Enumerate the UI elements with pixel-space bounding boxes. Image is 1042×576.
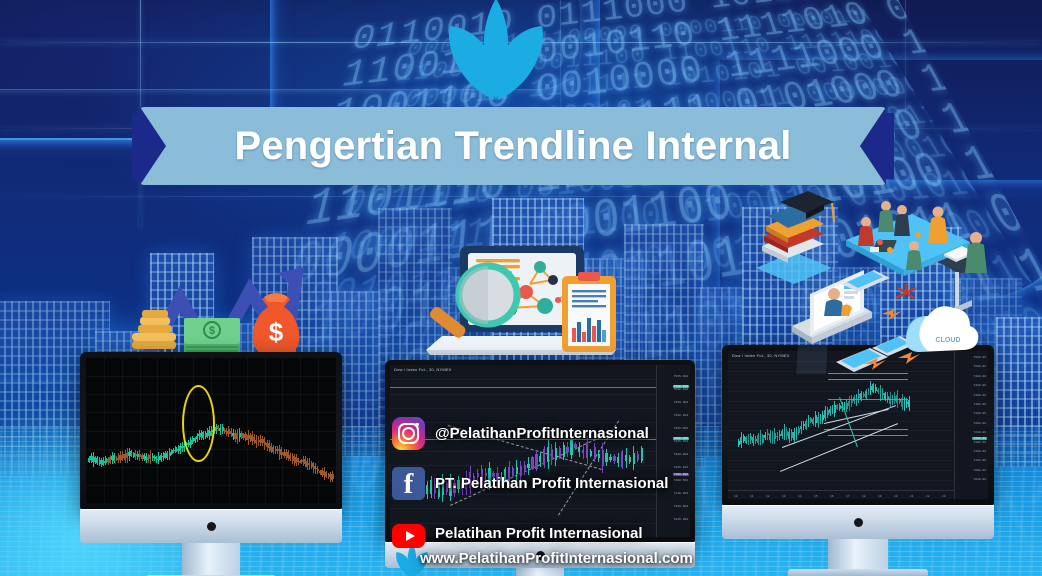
social-row-youtube[interactable]: Pelatihan Profit Internasional <box>392 512 722 554</box>
instagram-icon[interactable] <box>392 417 425 450</box>
time-tick: 14 <box>798 495 802 498</box>
youtube-icon[interactable] <box>392 524 425 548</box>
time-tick: 16 <box>830 495 834 498</box>
horizon-grid-line <box>0 42 1042 43</box>
time-tick: 19 <box>878 495 882 498</box>
neon-curve-icon <box>0 0 580 90</box>
time-tick: 12 <box>766 495 770 498</box>
time-tick: 15 <box>814 495 818 498</box>
price-tick: 7120.00 <box>973 459 986 462</box>
time-tick: 13 <box>782 495 786 498</box>
price-tick: 7040.00 <box>973 478 986 481</box>
current-price-tag: 7280.00 <box>972 437 987 440</box>
price-tick: 7160.00 <box>973 450 986 453</box>
price-tick: 7480.00 <box>973 375 986 378</box>
time-tick: 22 <box>926 495 930 498</box>
time-tick: 10 <box>734 495 738 498</box>
price-tick: 7520.00 <box>973 365 986 368</box>
price-tick: 7500.100 <box>674 388 688 391</box>
price-tick: 7320.00 <box>973 412 986 415</box>
poster-canvas: 0000101 1100000 0000110 0010110 10 11001… <box>0 0 1042 576</box>
social-media-overlay: @PelatihanProfitInternasional f PT. Pela… <box>392 412 722 562</box>
imac-logo-dot <box>854 518 863 527</box>
price-tick: 7200.00 <box>973 441 986 444</box>
price-tick: 7560.00 <box>973 356 986 359</box>
price-tick: 7450.300 <box>674 401 688 404</box>
website-url[interactable]: www.PelatihanProfitInternasional.com <box>420 550 693 567</box>
left-imac-candlestick-chart <box>80 352 342 576</box>
price-tick: 7535.400 <box>674 375 688 378</box>
price-tag: 7500.100 <box>673 385 689 388</box>
price-tick: 7080.00 <box>973 469 986 472</box>
imac-stand-neck <box>516 568 564 576</box>
time-tick: 23 <box>942 495 946 498</box>
horizon-grid-line <box>0 196 1042 197</box>
imac-stand-foot <box>788 569 928 576</box>
price-axis: 7560.007520.007480.007440.007400.007360.… <box>954 351 988 499</box>
candle <box>332 358 334 503</box>
price-tick: 7440.00 <box>973 384 986 387</box>
imac-chin <box>722 505 994 539</box>
title-ribbon: Pengertian Trendline Internal <box>132 107 894 185</box>
time-tick: 11 <box>750 495 754 498</box>
internal-trendline-highlight <box>182 385 215 462</box>
instagram-handle: @PelatihanProfitInternasional <box>435 425 649 442</box>
imac-chin <box>80 509 342 543</box>
time-axis: 1011121314151617181920212223 <box>728 490 954 499</box>
price-tick: 7360.00 <box>973 403 986 406</box>
right-imac-trendline-channel-chart: Dow / Index Fut., 30, NYMEX 7560.007520.… <box>722 345 994 576</box>
page-title: Pengertian Trendline Internal <box>132 107 894 185</box>
social-row-instagram[interactable]: @PelatihanProfitInternasional <box>392 412 722 454</box>
youtube-channel-name: Pelatihan Profit Internasional <box>435 525 643 542</box>
facebook-icon[interactable]: f <box>392 467 425 500</box>
imac-stand-neck <box>828 539 888 569</box>
facebook-page-name: PT. Pelatihan Profit Internasional <box>435 475 668 492</box>
price-tick: 7280.00 <box>973 422 986 425</box>
time-tick: 18 <box>862 495 866 498</box>
price-tick: 7400.00 <box>973 394 986 397</box>
imac-stand-neck <box>182 543 240 575</box>
time-tick: 17 <box>846 495 850 498</box>
social-row-facebook[interactable]: f PT. Pelatihan Profit Internasional <box>392 462 722 504</box>
price-tick: 7240.00 <box>973 431 986 434</box>
trendline-channel-chart-canvas: Dow / Index Fut., 30, NYMEX 7560.007520.… <box>728 351 988 499</box>
time-tick: 20 <box>894 495 898 498</box>
imac-logo-dot <box>207 522 216 531</box>
candle <box>908 351 910 490</box>
time-tick: 21 <box>910 495 914 498</box>
vertical-grid-line <box>905 0 906 230</box>
